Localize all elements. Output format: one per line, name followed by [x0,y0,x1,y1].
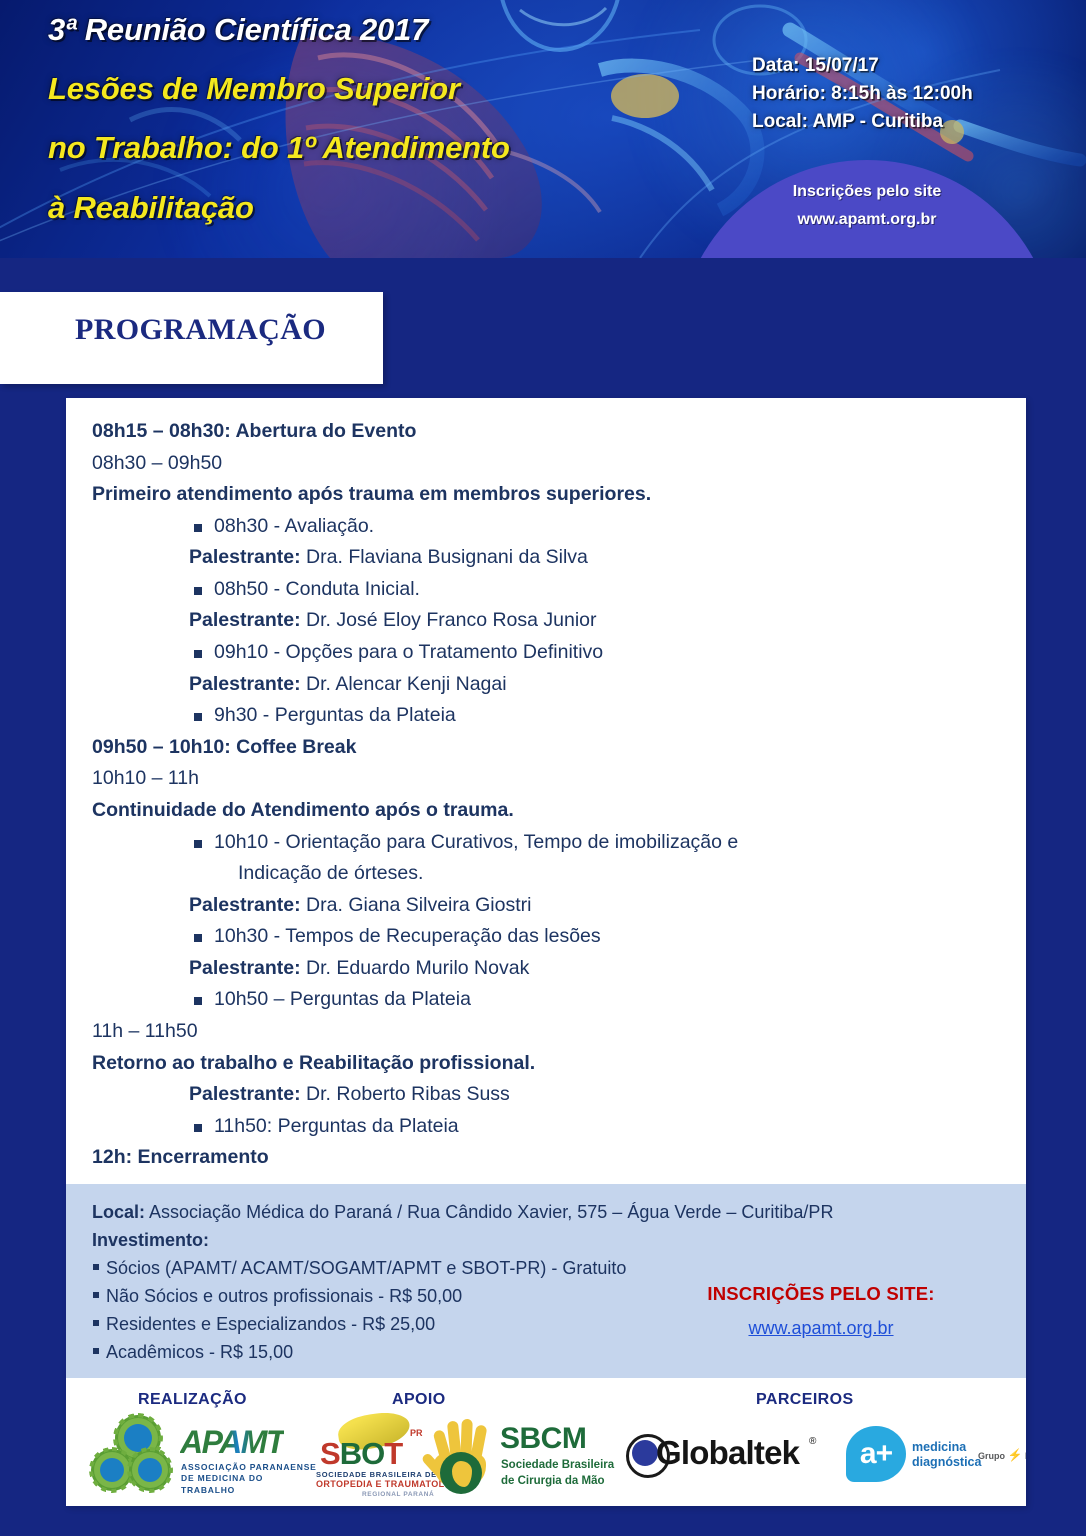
sbot-subtitle-line1: SOCIEDADE BRASILEIRA DE [316,1470,437,1479]
schedule-heading: Retorno ao trabalho e Reabilitação profi… [92,1048,1000,1080]
schedule-speaker: Palestrante: Dr. Roberto Ribas Suss [92,1079,1000,1111]
fleury-name: FLEURY [1025,1451,1026,1461]
apamt-subtitle: ASSOCIAÇÃO PARANAENSE DE MEDICINA DO TRA… [181,1462,320,1496]
hand-icon [428,1416,494,1496]
schedule-speaker: Palestrante: Dra. Giana Silveira Giostri [92,890,1000,922]
venue-value: Associação Médica do Paraná / Rua Cândid… [145,1202,833,1222]
schedule-timeslot: 10h10 – 11h [92,763,1000,795]
sbot-wordmark: SBOT [320,1436,402,1472]
gear-icon: ⚙ [132,1452,168,1488]
content-card: 08h15 – 08h30: Abertura do Evento08h30 –… [66,398,1026,1506]
venue-label: Local: [92,1202,145,1222]
programacao-tab: PROGRAMAÇÃO [0,292,383,384]
sbot-letter-o: O [361,1436,384,1471]
schedule-heading: 09h50 – 10h10: Coffee Break [92,732,1000,764]
event-venue: Local: AMP - Curitiba [752,108,973,136]
registration-block: INSCRIÇÕES PELO SITE: www.apamt.org.br [641,1280,1001,1342]
speaker-name: Dra. Flaviana Busignani da Silva [301,546,588,568]
footer-label-realizacao: REALIZAÇÃO [138,1391,247,1409]
sbcm-subtitle: Sociedade Brasileira de Cirurgia da Mão [501,1458,614,1489]
footer-label-apoio: APOIO [392,1391,446,1409]
schedule-bullet: 10h10 - Orientação para Curativos, Tempo… [92,827,1000,859]
schedule-speaker: Palestrante: Dra. Flaviana Busignani da … [92,542,1000,574]
schedule-speaker: Palestrante: Dr. Eduardo Murilo Novak [92,953,1000,985]
schedule-bullet: 11h50: Perguntas da Plateia [92,1111,1000,1143]
brazil-map-shape [452,1461,472,1487]
speaker-name: Dr. Alencar Kenji Nagai [301,673,507,695]
sbot-subtitle-line3: REGIONAL PARANÁ [362,1491,434,1498]
sbcm-subtitle-line2: de Cirurgia da Mão [501,1474,614,1490]
globe-icon [440,1452,482,1494]
header-banner: 3ª Reunião Científica 2017 Lesões de Mem… [0,0,1086,258]
globaltek-wordmark: Globaltek [656,1434,799,1472]
schedule-bullet: 08h50 - Conduta Inicial. [92,574,1000,606]
schedule-heading: 12h: Encerramento [92,1142,1000,1174]
speaker-name: Dr. José Eloy Franco Rosa Junior [301,609,597,631]
programacao-title: PROGRAMAÇÃO [75,313,326,347]
globaltek-logo: Globaltek ® [626,1430,826,1480]
registration-link[interactable]: www.apamt.org.br [641,1314,1001,1342]
speaker-label: Palestrante: [189,673,301,695]
banner-title-line-4: à Reabilitação [48,192,688,224]
registration-callout-url[interactable]: www.apamt.org.br [677,206,1057,234]
speaker-label: Palestrante: [189,546,301,568]
banner-title-line-2: Lesões de Membro Superior [48,73,688,105]
schedule-bullet: 10h50 – Perguntas da Plateia [92,984,1000,1016]
schedule-bullet: 08h30 - Avaliação. [92,511,1000,543]
investment-label: Investimento: [92,1226,1000,1254]
sbot-pr-badge: PR [410,1428,423,1438]
speaker-label: Palestrante: [189,609,301,631]
sbcm-logo: SBCM Sociedade Brasileira de Cirurgia da… [428,1414,600,1506]
banner-title-line-1: 3ª Reunião Científica 2017 [48,14,688,46]
schedule-timeslot: 08h30 – 09h50 [92,448,1000,480]
registration-title: INSCRIÇÕES PELO SITE: [641,1280,1001,1309]
speaker-label: Palestrante: [189,1083,301,1105]
schedule-speaker: Palestrante: Dr. José Eloy Franco Rosa J… [92,605,1000,637]
aplus-mark: a+ [846,1426,906,1482]
schedule-bullet-continuation: Indicação de órteses. [92,858,1000,890]
apamt-subtitle-line2: DE MEDICINA DO TRABALHO [181,1473,320,1496]
aplus-logo: a+ medicina diagnóstica Grupo ⚡ FLEURY [846,1426,1026,1484]
sbot-letter-t: T [384,1436,402,1471]
fleury-group-logo: Grupo ⚡ FLEURY [978,1448,1026,1462]
schedule-bullet: 10h30 - Tempos de Recuperação das lesões [92,921,1000,953]
aplus-subtitle: medicina diagnóstica [912,1440,981,1470]
speaker-name: Dra. Giana Silveira Giostri [301,894,532,916]
poster-page: 3ª Reunião Científica 2017 Lesões de Mem… [0,0,1086,1536]
banner-title-line-3: no Trabalho: do 1º Atendimento [48,132,688,164]
banner-title-group: 3ª Reunião Científica 2017 Lesões de Mem… [48,14,688,224]
price-item: Sócios (APAMT/ ACAMT/SOGAMT/APMT e SBOT-… [92,1254,1000,1282]
event-time: Horário: 8:15h às 12:00h [752,80,973,108]
schedule-heading: Primeiro atendimento após trauma em memb… [92,479,1000,511]
gear-icon: ⚒ [94,1452,130,1488]
schedule-bullet: 9h30 - Perguntas da Plateia [92,700,1000,732]
schedule-heading: 08h15 – 08h30: Abertura do Evento [92,416,1000,448]
speaker-name: Dr. Roberto Ribas Suss [301,1083,510,1105]
fleury-group-label: Grupo [978,1451,1005,1461]
event-date: Data: 15/07/17 [752,52,973,80]
sbot-logo: SBOT PR SOCIEDADE BRASILEIRA DE ORTOPEDI… [314,1414,438,1502]
registration-callout-line1: Inscrições pelo site [677,178,1057,206]
schedule-bullet: 09h10 - Opções para o Tratamento Definit… [92,637,1000,669]
schedule-speaker: Palestrante: Dr. Alencar Kenji Nagai [92,669,1000,701]
venue-row: Local: Associação Médica do Paraná / Rua… [92,1198,1000,1226]
apamt-wordmark: APAMT [180,1424,284,1461]
schedule-heading: Continuidade do Atendimento após o traum… [92,795,1000,827]
sponsors-footer: REALIZAÇÃO APOIO PARCEIROS ⚕ ⚒ ⚙ APAMT A… [66,1378,1026,1506]
price-item: Acadêmicos - R$ 15,00 [92,1338,1000,1366]
apamt-subtitle-line1: ASSOCIAÇÃO PARANAENSE [181,1462,320,1473]
banner-event-details: Data: 15/07/17 Horário: 8:15h às 12:00h … [752,52,973,136]
registered-trademark-icon: ® [809,1436,816,1447]
speaker-label: Palestrante: [189,894,301,916]
footer-label-parceiros: PARCEIROS [756,1391,854,1409]
aplus-subtitle-line2: diagnóstica [912,1455,981,1470]
sbot-letter-s: S [320,1436,340,1471]
speaker-name: Dr. Eduardo Murilo Novak [301,957,530,979]
registration-callout: Inscrições pelo site www.apamt.org.br [677,178,1057,234]
fleury-mark-icon: ⚡ [1008,1448,1023,1462]
sbot-letter-b: B [340,1436,361,1471]
schedule-list: 08h15 – 08h30: Abertura do Evento08h30 –… [66,398,1026,1174]
sbcm-subtitle-line1: Sociedade Brasileira [501,1458,614,1474]
speaker-label: Palestrante: [189,957,301,979]
sbcm-wordmark: SBCM [500,1422,586,1456]
info-box: Local: Associação Médica do Paraná / Rua… [66,1184,1026,1378]
schedule-timeslot: 11h – 11h50 [92,1016,1000,1048]
aplus-subtitle-line1: medicina [912,1440,981,1455]
apamt-logo: ⚕ ⚒ ⚙ APAMT ASSOCIAÇÃO PARANAENSE DE MED… [88,1418,320,1496]
